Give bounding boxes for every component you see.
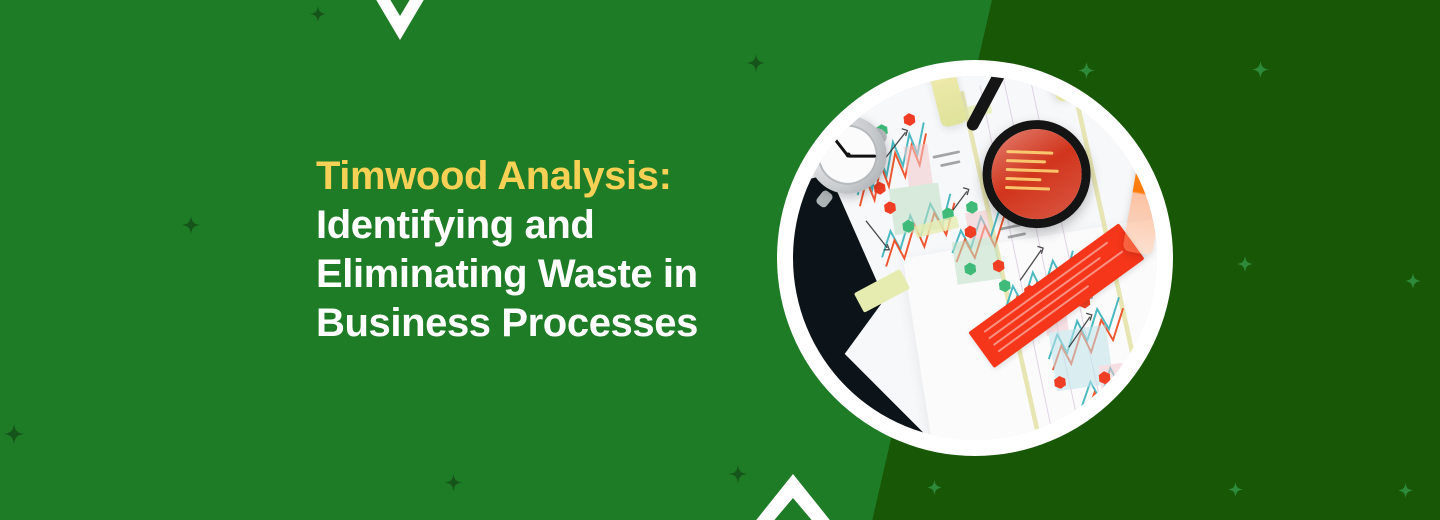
hero-image-frame	[777, 60, 1173, 456]
banner-root: Timwood Analysis: Identifying and Elimin…	[0, 0, 1440, 520]
magnifying-glass	[981, 119, 1093, 231]
title-line-accent: Timwood Analysis:	[316, 152, 786, 201]
title-line-3: Eliminating Waste in	[316, 250, 786, 299]
desk-scene	[793, 76, 1157, 440]
page-title: Timwood Analysis: Identifying and Elimin…	[316, 152, 786, 348]
hero-image	[793, 76, 1157, 440]
title-line-2: Identifying and	[316, 201, 786, 250]
title-line-4: Business Processes	[316, 299, 786, 348]
